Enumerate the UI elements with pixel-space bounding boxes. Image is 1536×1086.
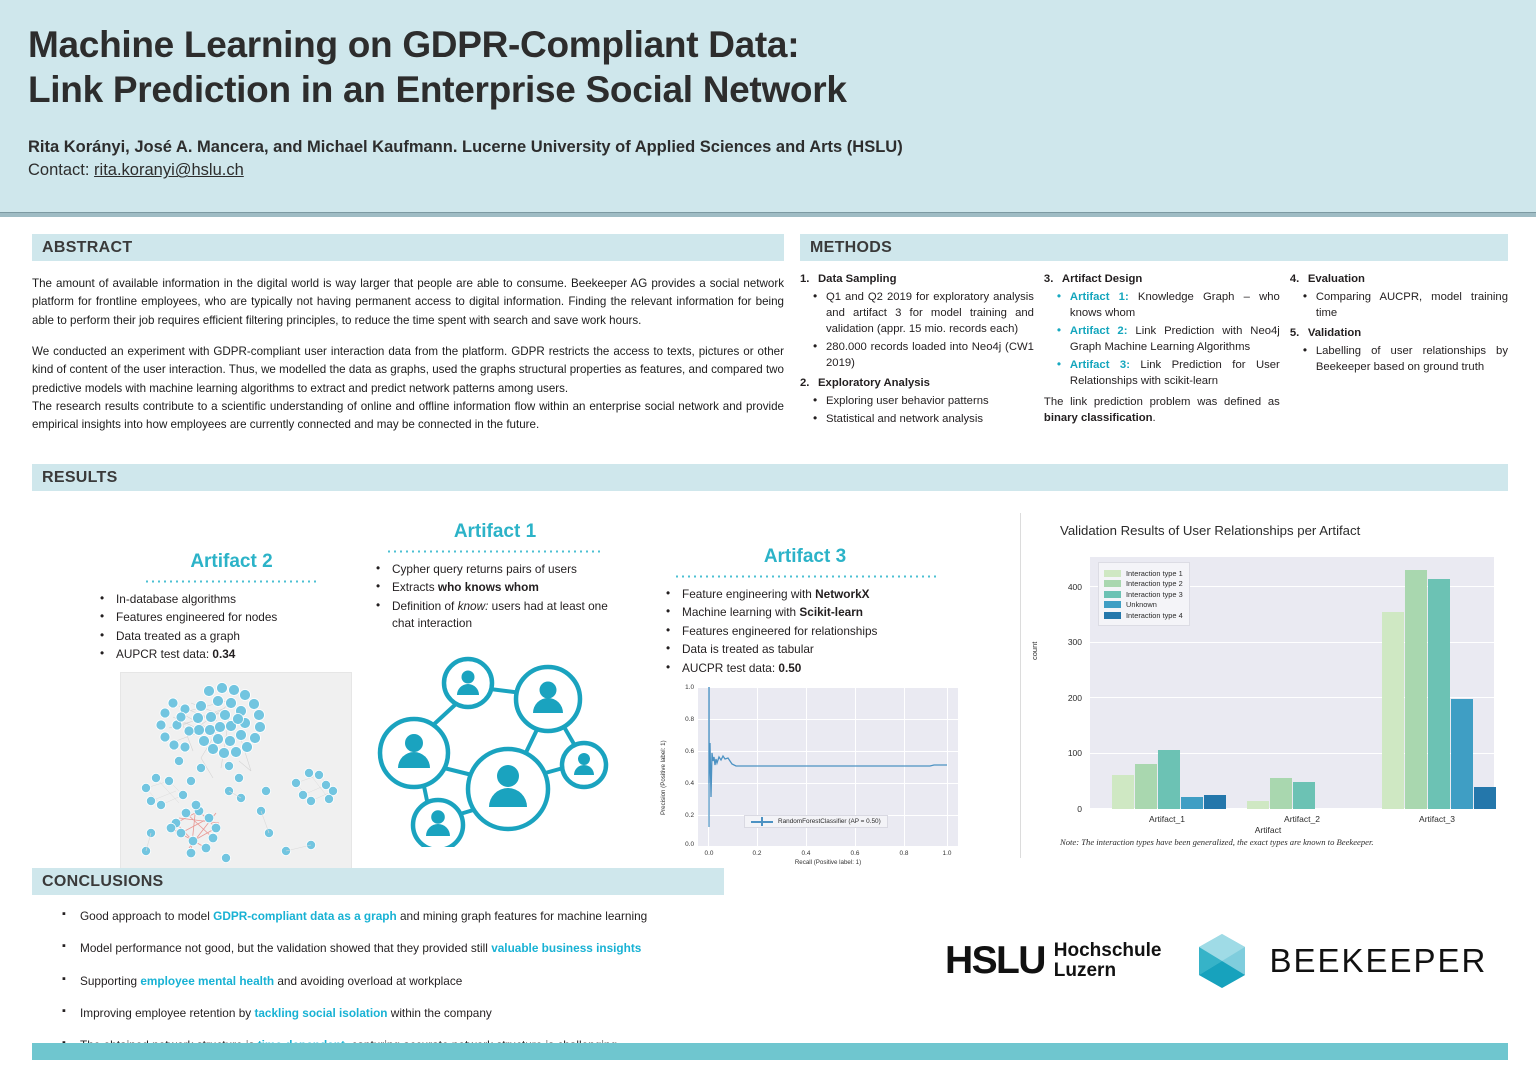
step-title: Artifact Design xyxy=(1062,271,1142,287)
bullet-text: Feature engineering with xyxy=(682,587,815,601)
item-highlight: GDPR-compliant data as a graph xyxy=(213,909,397,923)
list-item: Data treated as a graph xyxy=(94,628,369,645)
pr-y-tick: 0.8 xyxy=(668,716,694,723)
artifact-1-title: Artifact 1 xyxy=(370,521,620,543)
conclusions-heading: CONCLUSIONS xyxy=(32,868,724,895)
bar-y-axis-label: count xyxy=(1030,642,1039,660)
bullet-text: AUPCR test data: xyxy=(116,647,212,661)
bullet-text: Cypher query returns pairs of users xyxy=(392,562,577,576)
beekeeper-hexagon-icon xyxy=(1191,930,1253,992)
bar-chart-legend: Interaction type 1 Interaction type 2 In… xyxy=(1098,562,1190,626)
hslu-subtitle: Hochschule Luzern xyxy=(1054,941,1162,981)
legend-swatch xyxy=(1104,601,1121,608)
pr-x-tick: 0.4 xyxy=(791,850,821,857)
legend-label: Unknown xyxy=(1126,600,1157,609)
step-number: 2. xyxy=(800,375,813,391)
validation-bar-chart: Validation Results of User Relationships… xyxy=(1032,523,1508,847)
methods-step-5-bullets: Labelling of user relationships by Beeke… xyxy=(1290,343,1508,375)
list-item: Supporting employee mental health and av… xyxy=(32,974,724,989)
results-section: RESULTS Artifact 2 In-database algorithm… xyxy=(32,464,1508,873)
bar-a3-type2 xyxy=(1405,570,1427,809)
bar-a3-type4 xyxy=(1474,787,1496,809)
legend-label: Interaction type 4 xyxy=(1126,611,1183,620)
list-item: Artifact 1: Knowledge Graph – who knows … xyxy=(1044,289,1280,321)
bar-x-tick: Artifact_1 xyxy=(1122,814,1212,824)
pr-y-tick: 0.4 xyxy=(668,780,694,787)
list-item: Q1 and Q2 2019 for exploratory analysis … xyxy=(800,289,1034,337)
bar-a3-type1 xyxy=(1382,612,1404,810)
methods-column-3: 4. Evaluation Comparing AUCPR, model tra… xyxy=(1290,269,1508,431)
bullet-text: Machine learning with xyxy=(682,605,799,619)
artifact-2-network-graph-image xyxy=(120,672,352,872)
pr-y-tick: 0.0 xyxy=(668,841,694,848)
hslu-subtitle-line-2: Luzern xyxy=(1054,961,1162,981)
item-highlight: valuable business insights xyxy=(491,941,641,955)
bullet-bold: 0.50 xyxy=(778,661,801,675)
note-post: . xyxy=(1153,412,1156,424)
contact-email-link[interactable]: rita.koranyi@hslu.ch xyxy=(94,161,244,179)
list-item: Extracts who knows whom xyxy=(370,579,620,596)
bar-chart-note: Note: The interaction types have been ge… xyxy=(1060,837,1508,847)
abstract-heading: ABSTRACT xyxy=(32,234,784,261)
page-title: Machine Learning on GDPR-Compliant Data:… xyxy=(28,22,1508,112)
bullet-text: AUCPR test data: xyxy=(682,661,778,675)
item-post: within the company xyxy=(388,1006,492,1020)
pr-y-tick: 0.2 xyxy=(668,812,694,819)
list-item: Statistical and network analysis xyxy=(800,411,1034,427)
pr-plot-area: RandomForestClassifier (AP = 0.50) xyxy=(698,687,958,847)
item-post: and avoiding overload at workplace xyxy=(274,974,462,988)
step-title: Evaluation xyxy=(1308,271,1365,287)
bullet-text: Data is treated as tabular xyxy=(682,642,814,656)
step-number: 4. xyxy=(1290,271,1303,287)
bar-chart-area: Interaction type 1 Interaction type 2 In… xyxy=(1032,548,1504,833)
bullet-text: In-database algorithms xyxy=(116,592,236,606)
list-item: Comparing AUCPR, model training time xyxy=(1290,289,1508,321)
bar-a2-type1 xyxy=(1247,801,1269,809)
item-highlight: employee mental health xyxy=(140,974,274,988)
item-post: and mining graph features for machine le… xyxy=(397,909,648,923)
bar-a1-type2 xyxy=(1135,764,1157,809)
poster-header: Machine Learning on GDPR-Compliant Data:… xyxy=(0,0,1536,212)
methods-columns: 1. Data Sampling Q1 and Q2 2019 for expl… xyxy=(800,269,1508,431)
legend-item: Interaction type 3 xyxy=(1104,590,1183,599)
dotted-rule xyxy=(144,580,319,583)
step-title: Validation xyxy=(1308,325,1361,341)
list-item: 280.000 records loaded into Neo4j (CW1 2… xyxy=(800,339,1034,371)
bullet-text: Definition of xyxy=(392,599,458,613)
conclusions-list: Good approach to model GDPR-compliant da… xyxy=(32,909,724,1054)
list-item: Feature engineering with NetworkX xyxy=(660,586,950,603)
step-number: 5. xyxy=(1290,325,1303,341)
hslu-subtitle-line-1: Hochschule xyxy=(1054,941,1162,961)
list-item: Labelling of user relationships by Beeke… xyxy=(1290,343,1508,375)
methods-binary-note: The link prediction problem was defined … xyxy=(1044,394,1280,426)
contact-line: Contact: rita.koranyi@hslu.ch xyxy=(28,161,1508,180)
legend-item: Interaction type 2 xyxy=(1104,579,1183,588)
list-item: Machine learning with Scikit-learn xyxy=(660,604,950,621)
list-item: Artifact 3: Link Prediction for User Rel… xyxy=(1044,357,1280,389)
contact-label: Contact: xyxy=(28,161,94,179)
bar-a2-type3 xyxy=(1293,782,1315,809)
bullet-italic: know: xyxy=(458,599,489,613)
list-item: Features engineered for nodes xyxy=(94,609,369,626)
legend-swatch xyxy=(1104,612,1121,619)
header-divider xyxy=(0,212,1536,217)
methods-column-1: 1. Data Sampling Q1 and Q2 2019 for expl… xyxy=(800,269,1034,431)
item-pre: Good approach to model xyxy=(80,909,213,923)
bullet-bold: Scikit-learn xyxy=(799,605,863,619)
bar-y-tick: 200 xyxy=(1050,693,1082,703)
bullet-text: Extracts xyxy=(392,580,438,594)
list-item: Improving employee retention by tackling… xyxy=(32,1006,724,1021)
bar-a1-unknown xyxy=(1181,797,1203,809)
methods-step-4-bullets: Comparing AUCPR, model training time xyxy=(1290,289,1508,321)
legend-item: Interaction type 4 xyxy=(1104,611,1183,620)
beekeeper-wordmark: BEEKEEPER xyxy=(1269,942,1487,980)
item-pre: Model performance not good, but the vali… xyxy=(80,941,491,955)
pr-legend: RandomForestClassifier (AP = 0.50) xyxy=(744,815,888,828)
bullet-bold: who knows whom xyxy=(438,580,539,594)
network-graph-svg xyxy=(121,673,352,872)
bar-y-tick: 0 xyxy=(1050,804,1082,814)
pr-legend-line-swatch xyxy=(751,821,773,823)
item-pre: Supporting xyxy=(80,974,140,988)
precision-recall-chart: RandomForestClassifier (AP = 0.50) 1.0 0… xyxy=(660,683,965,871)
legend-label: Interaction type 1 xyxy=(1126,569,1183,578)
results-vertical-divider xyxy=(1020,513,1021,858)
artifact-1-block: Artifact 1 Cypher query returns pairs of… xyxy=(370,521,620,847)
methods-step-3: 3. Artifact Design xyxy=(1044,271,1280,287)
bullet-bold: NetworkX xyxy=(815,587,869,601)
list-item: Features engineered for relationships xyxy=(660,623,950,640)
bullet-text: Data treated as a graph xyxy=(116,629,240,643)
methods-step-2-bullets: Exploring user behavior patterns Statist… xyxy=(800,393,1034,427)
abstract-paragraph-3: The research results contribute to a sci… xyxy=(32,398,784,435)
artifact-2-bullets: In-database algorithms Features engineer… xyxy=(94,591,369,664)
artifact-1-people-network-icon xyxy=(370,647,620,847)
item-highlight: tackling social isolation xyxy=(254,1006,387,1020)
artifact-3-block: Artifact 3 Feature engineering with Netw… xyxy=(660,546,950,871)
pr-x-tick: 0.6 xyxy=(840,850,870,857)
dotted-rule xyxy=(386,550,604,553)
artifact-3-bullets: Feature engineering with NetworkX Machin… xyxy=(660,586,950,677)
list-item: Artifact 2: Link Prediction with Neo4j G… xyxy=(1044,323,1280,355)
author-list: Rita Korányi, José A. Mancera, and Micha… xyxy=(28,138,1508,157)
bar-a3-type3 xyxy=(1428,579,1450,809)
bar-x-tick: Artifact_2 xyxy=(1257,814,1347,824)
note-bold: binary classification xyxy=(1044,412,1153,424)
pr-y-axis-label: Precision (Positive label: 1) xyxy=(660,741,667,816)
list-item: Good approach to model GDPR-compliant da… xyxy=(32,909,724,924)
poster-root: Machine Learning on GDPR-Compliant Data:… xyxy=(0,0,1536,1086)
item-pre: Improving employee retention by xyxy=(80,1006,254,1020)
legend-item: Interaction type 1 xyxy=(1104,569,1183,578)
list-item: Exploring user behavior patterns xyxy=(800,393,1034,409)
pr-x-tick: 0.8 xyxy=(889,850,919,857)
list-item: Definition of know: users had at least o… xyxy=(370,598,620,633)
abstract-section: ABSTRACT The amount of available informa… xyxy=(32,234,784,435)
abstract-paragraph-1: The amount of available information in t… xyxy=(32,275,784,330)
artifact-1-bullets: Cypher query returns pairs of users Extr… xyxy=(370,561,620,633)
artifact-3-label: Artifact 3: xyxy=(1070,359,1130,371)
results-body: Artifact 2 In-database algorithms Featur… xyxy=(32,491,1508,873)
bar-a1-type1 xyxy=(1112,775,1134,810)
dotted-rule xyxy=(674,575,936,578)
bar-y-tick: 100 xyxy=(1050,748,1082,758)
pr-x-tick: 0.0 xyxy=(694,850,724,857)
bar-a3-unknown xyxy=(1451,699,1473,809)
conclusions-section: CONCLUSIONS Good approach to model GDPR-… xyxy=(32,868,724,1071)
list-item: AUCPR test data: 0.50 xyxy=(660,660,950,677)
bar-x-tick: Artifact_3 xyxy=(1392,814,1482,824)
list-item: Model performance not good, but the vali… xyxy=(32,941,724,956)
artifact-1-label: Artifact 1: xyxy=(1070,291,1129,303)
artifact-2-block: Artifact 2 In-database algorithms Featur… xyxy=(94,551,369,872)
methods-step-5: 5. Validation xyxy=(1290,325,1508,341)
bar-a1-type4 xyxy=(1204,795,1226,809)
artifact-2-label: Artifact 2: xyxy=(1070,325,1128,337)
methods-step-3-bullets: Artifact 1: Knowledge Graph – who knows … xyxy=(1044,289,1280,389)
bullet-bold: 0.34 xyxy=(212,647,235,661)
bar-a2-type2 xyxy=(1270,778,1292,809)
bar-x-axis-label: Artifact xyxy=(1032,825,1504,835)
pr-legend-label: RandomForestClassifier (AP = 0.50) xyxy=(778,818,881,825)
bar-a1-type3 xyxy=(1158,750,1180,809)
pr-x-tick: 0.2 xyxy=(742,850,772,857)
pr-x-axis-label: Recall (Positive label: 1) xyxy=(698,859,958,866)
hslu-logo: HSLU Hochschule Luzern xyxy=(945,939,1161,983)
methods-step-1-bullets: Q1 and Q2 2019 for exploratory analysis … xyxy=(800,289,1034,371)
abstract-paragraph-2: We conducted an experiment with GDPR-com… xyxy=(32,343,784,398)
artifact-2-title: Artifact 2 xyxy=(94,551,369,573)
bar-chart-title: Validation Results of User Relationships… xyxy=(1060,523,1508,538)
step-number: 3. xyxy=(1044,271,1057,287)
pr-y-tick: 0.6 xyxy=(668,748,694,755)
legend-item: Unknown xyxy=(1104,600,1183,609)
legend-label: Interaction type 3 xyxy=(1126,590,1183,599)
methods-section: METHODS 1. Data Sampling Q1 and Q2 2019 … xyxy=(800,234,1508,431)
step-title: Data Sampling xyxy=(818,271,896,287)
list-item: Cypher query returns pairs of users xyxy=(370,561,620,578)
results-heading: RESULTS xyxy=(32,464,1508,491)
bar-y-tick: 300 xyxy=(1050,637,1082,647)
footer-bar xyxy=(32,1043,1508,1060)
bullet-text: Features engineered for nodes xyxy=(116,610,277,624)
people-network-svg xyxy=(370,647,620,847)
logo-row: HSLU Hochschule Luzern BEEKEEPER xyxy=(945,930,1505,992)
list-item: Data is treated as tabular xyxy=(660,641,950,658)
methods-step-1: 1. Data Sampling xyxy=(800,271,1034,287)
methods-column-2: 3. Artifact Design Artifact 1: Knowledge… xyxy=(1044,269,1280,431)
legend-swatch xyxy=(1104,580,1121,587)
hslu-wordmark: HSLU xyxy=(945,939,1045,983)
beekeeper-logo: BEEKEEPER xyxy=(1191,930,1487,992)
bar-y-tick: 400 xyxy=(1050,582,1082,592)
artifact-3-title: Artifact 3 xyxy=(660,546,950,568)
abstract-body: The amount of available information in t… xyxy=(32,275,784,435)
list-item: AUPCR test data: 0.34 xyxy=(94,646,369,663)
step-number: 1. xyxy=(800,271,813,287)
bullet-text: Features engineered for relationships xyxy=(682,624,877,638)
methods-step-4: 4. Evaluation xyxy=(1290,271,1508,287)
pr-x-tick: 1.0 xyxy=(932,850,962,857)
methods-step-2: 2. Exploratory Analysis xyxy=(800,375,1034,391)
title-line-1: Machine Learning on GDPR-Compliant Data: xyxy=(28,22,1508,67)
note-pre: The link prediction problem was defined … xyxy=(1044,396,1280,408)
pr-y-tick: 1.0 xyxy=(668,684,694,691)
methods-heading: METHODS xyxy=(800,234,1508,261)
legend-swatch xyxy=(1104,591,1121,598)
legend-label: Interaction type 2 xyxy=(1126,579,1183,588)
title-line-2: Link Prediction in an Enterprise Social … xyxy=(28,67,1508,112)
step-title: Exploratory Analysis xyxy=(818,375,930,391)
legend-swatch xyxy=(1104,570,1121,577)
list-item: In-database algorithms xyxy=(94,591,369,608)
